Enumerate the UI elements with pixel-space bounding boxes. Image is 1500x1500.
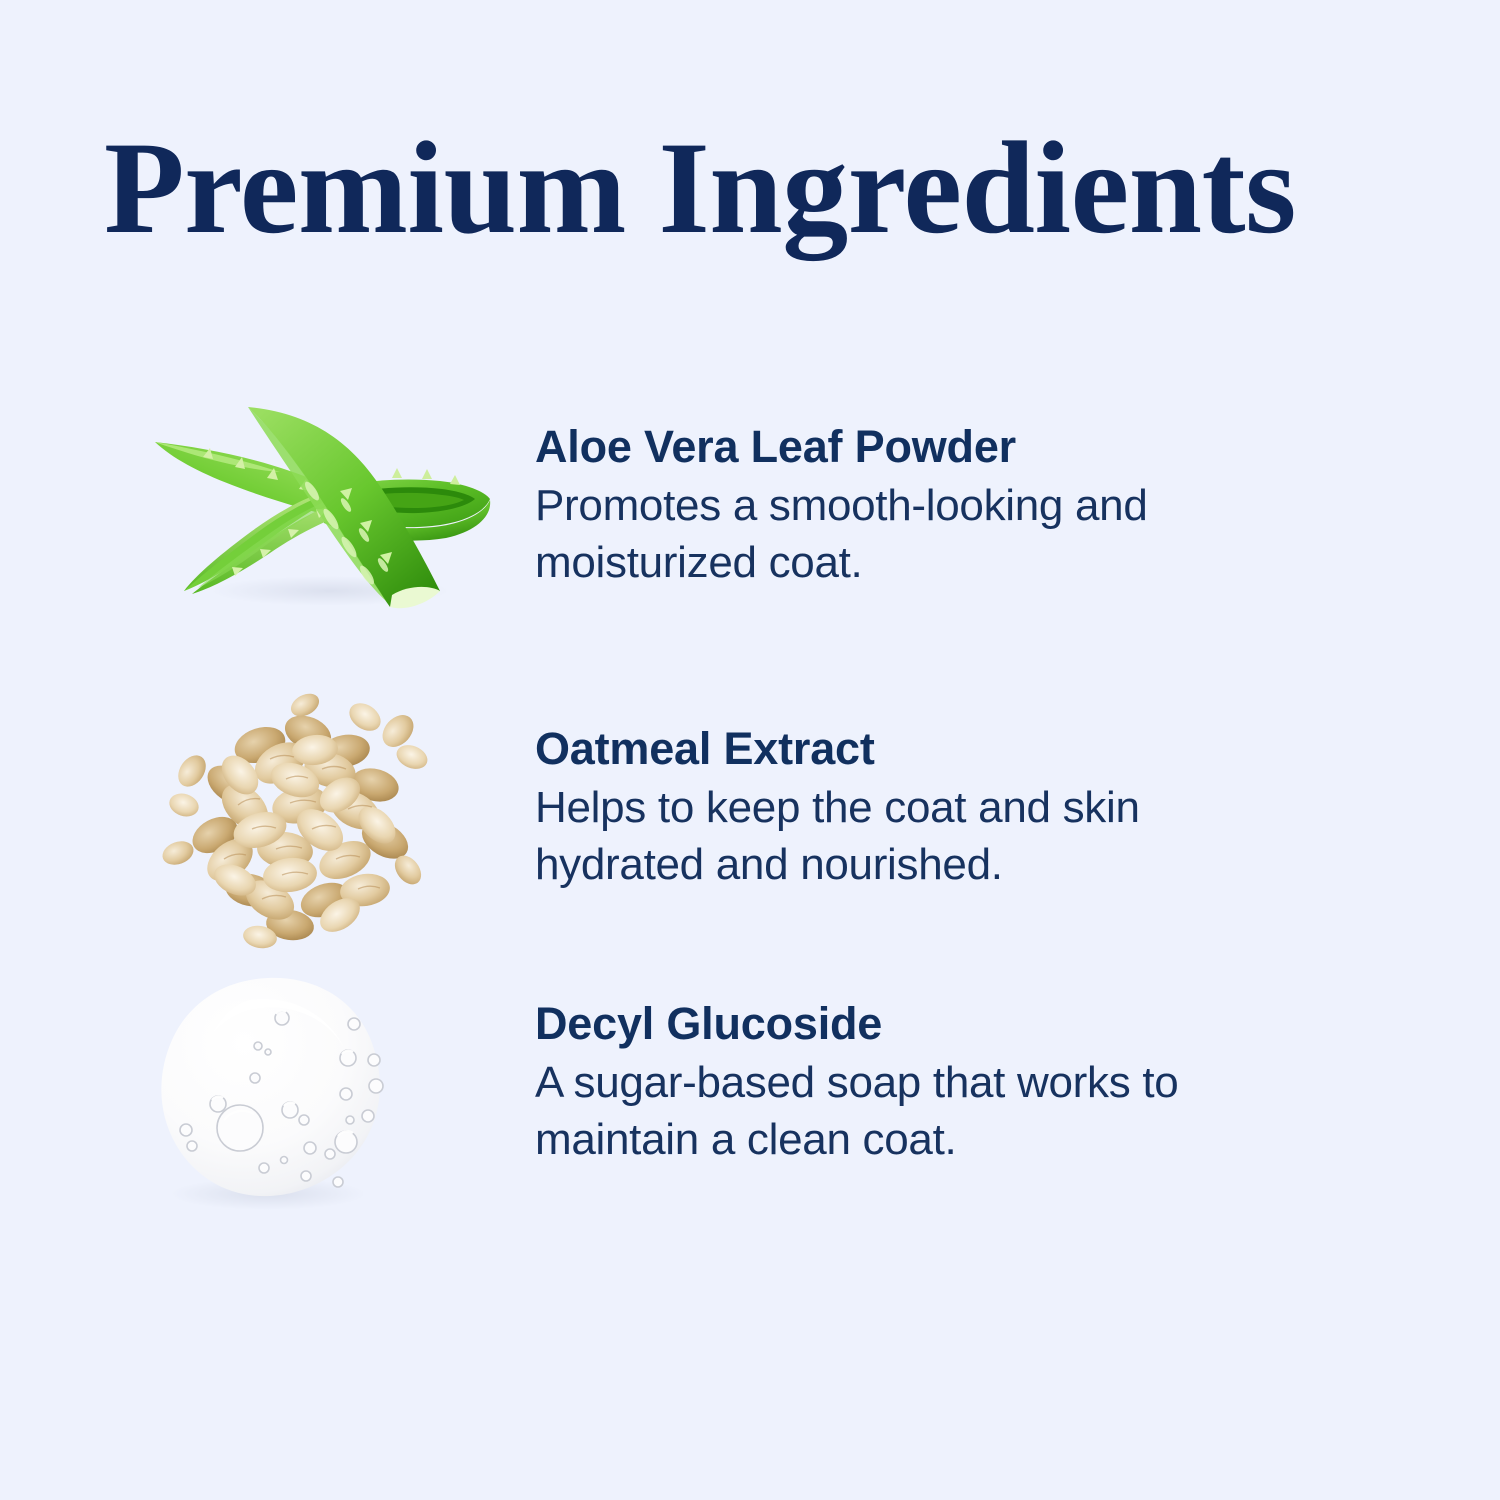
ingredient-row-decyl-glucoside: Decyl Glucoside A sugar-based soap that … bbox=[140, 970, 1420, 1260]
ingredient-description: A sugar-based soap that works to maintai… bbox=[535, 1054, 1255, 1168]
ingredient-description: Helps to keep the coat and skin hydrated… bbox=[535, 779, 1255, 893]
ingredient-title: Aloe Vera Leaf Powder bbox=[535, 421, 1420, 473]
ingredient-title: Oatmeal Extract bbox=[535, 723, 1420, 775]
ingredient-list: Aloe Vera Leaf Powder Promotes a smooth-… bbox=[0, 0, 1500, 1500]
aloe-vera-leaves-image bbox=[140, 395, 535, 655]
premium-ingredients-page: Premium Ingredients bbox=[0, 0, 1500, 1500]
ingredient-text-decyl-glucoside: Decyl Glucoside A sugar-based soap that … bbox=[535, 970, 1420, 1168]
ingredient-description: Promotes a smooth-looking and moisturize… bbox=[535, 477, 1255, 591]
ingredient-row-oatmeal: Oatmeal Extract Helps to keep the coat a… bbox=[140, 675, 1420, 965]
oatmeal-flakes-image bbox=[140, 675, 535, 935]
ingredient-title: Decyl Glucoside bbox=[535, 998, 1420, 1050]
gel-droplet-image bbox=[140, 970, 535, 1230]
ingredient-row-aloe-vera: Aloe Vera Leaf Powder Promotes a smooth-… bbox=[140, 395, 1420, 685]
ingredient-text-oatmeal: Oatmeal Extract Helps to keep the coat a… bbox=[535, 675, 1420, 893]
ingredient-text-aloe-vera: Aloe Vera Leaf Powder Promotes a smooth-… bbox=[535, 395, 1420, 591]
